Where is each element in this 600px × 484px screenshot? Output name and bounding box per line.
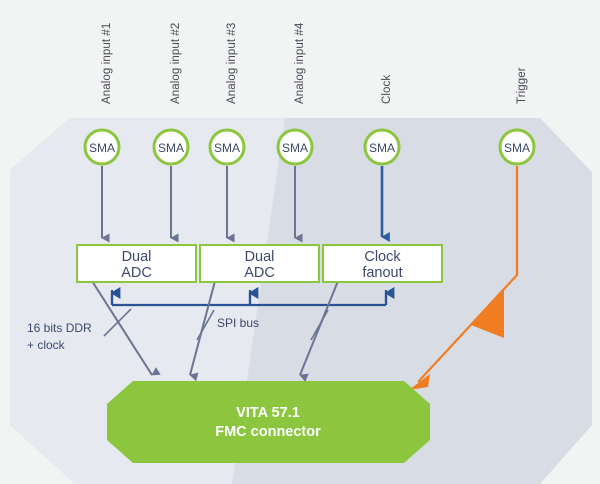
sma-analog-1[interactable]: SMA [85,130,119,164]
block-dual-adc-2-line2: ADC [244,265,275,281]
sma-analog-3[interactable]: SMA [210,130,244,164]
block-clock-fanout-line2: fanout [362,265,402,281]
block-dual-adc-2[interactable]: Dual ADC [200,245,319,282]
sma-analog-3-label: SMA [214,141,240,155]
sma-clock-label: SMA [369,141,395,155]
spi-bus-label: SPI bus [217,316,259,330]
block-dual-adc-1-line2: ADC [121,265,152,281]
vita-fmc-connector[interactable]: VITA 57.1 FMC connector [107,381,430,463]
sma-trigger[interactable]: SMA [500,130,534,164]
vita-fmc-connector-line2: FMC connector [215,424,321,440]
sma-analog-2-label: SMA [158,141,184,155]
diagram-canvas: Analog input #1 Analog input #2 Analog i… [0,0,600,484]
ddr-bus-label-line2: + clock [27,338,66,352]
sma-analog-4[interactable]: SMA [278,130,312,164]
block-dual-adc-2-line1: Dual [245,249,275,265]
sma-analog-2[interactable]: SMA [154,130,188,164]
sma-clock[interactable]: SMA [365,130,399,164]
vita-fmc-connector-line1: VITA 57.1 [236,405,300,421]
block-clock-fanout-line1: Clock [364,249,401,265]
sma-trigger-label: SMA [504,141,530,155]
block-dual-adc-1[interactable]: Dual ADC [77,245,196,282]
sma-analog-4-label: SMA [282,141,308,155]
sma-analog-1-label: SMA [89,141,115,155]
block-dual-adc-1-line1: Dual [122,249,152,265]
block-clock-fanout[interactable]: Clock fanout [323,245,442,282]
ddr-bus-label-line1: 16 bits DDR [27,321,92,335]
